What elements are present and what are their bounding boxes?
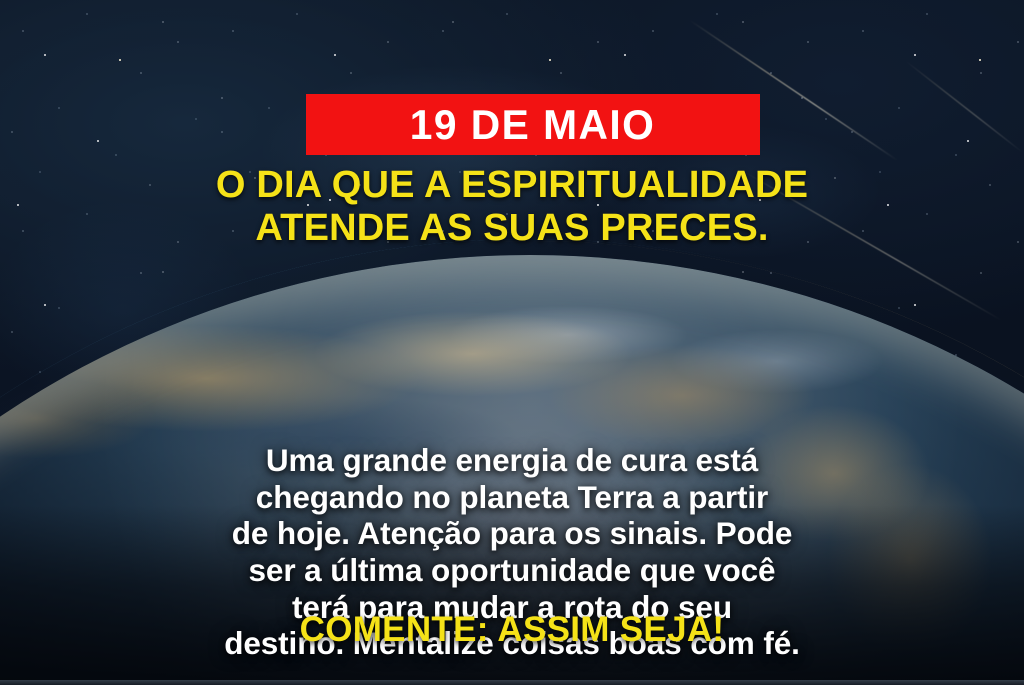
call-to-action-text: COMENTE: ASSIM SEJA! xyxy=(0,612,1024,647)
body-line-4: ser a última oportunidade que você xyxy=(48,552,976,589)
date-banner-text: 19 DE MAIO xyxy=(410,104,655,146)
poster-image: 19 DE MAIO O DIA QUE A ESPIRITUALIDADE A… xyxy=(0,0,1024,685)
headline: O DIA QUE A ESPIRITUALIDADE ATENDE AS SU… xyxy=(0,164,1024,251)
body-line-3: de hoje. Atenção para os sinais. Pode xyxy=(48,515,976,552)
date-banner: 19 DE MAIO xyxy=(306,94,760,155)
headline-line-1: O DIA QUE A ESPIRITUALIDADE xyxy=(0,164,1024,207)
body-line-1: Uma grande energia de cura está xyxy=(48,442,976,479)
poster-content: 19 DE MAIO O DIA QUE A ESPIRITUALIDADE A… xyxy=(0,0,1024,685)
headline-line-2: ATENDE AS SUAS PRECES. xyxy=(0,207,1024,250)
body-line-2: chegando no planeta Terra a partir xyxy=(48,479,976,516)
